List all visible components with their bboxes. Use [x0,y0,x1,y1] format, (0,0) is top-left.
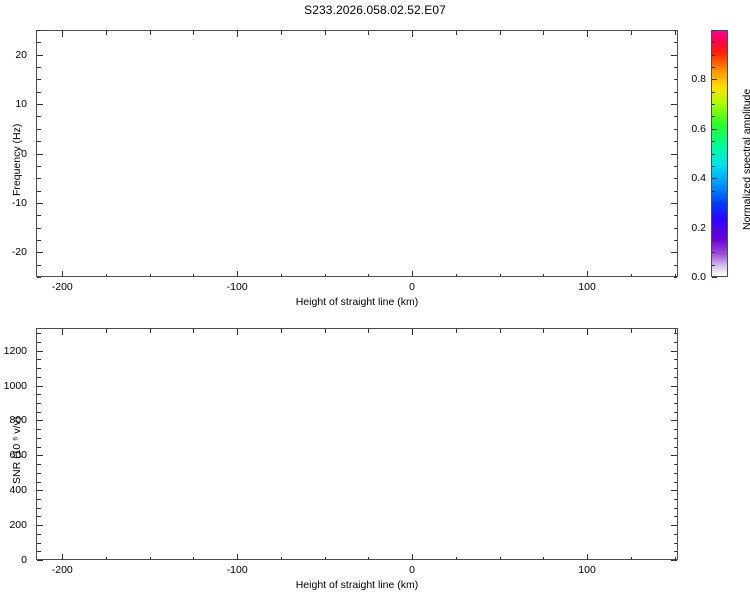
bottom-panel-xlabel: Height of straight line (km) [296,579,419,591]
tick-mark [37,551,41,552]
tick-mark [587,329,588,335]
tick-mark [712,42,715,43]
tick-mark [37,386,43,387]
tick-mark [712,92,715,93]
tick-mark [368,31,369,35]
bottom-ytick-label: 200 [0,519,27,531]
tick-mark [37,499,41,500]
tick-mark [712,116,715,117]
tick-mark [412,554,413,560]
tick-mark [671,351,677,352]
tick-mark [674,333,678,334]
page-title: S233.2026.058.02.52.E07 [0,3,750,17]
tick-mark [587,31,588,37]
top-panel-xlabel: Height of straight line (km) [296,296,419,308]
tick-mark [712,104,715,105]
tick-mark [674,473,678,474]
tick-mark [193,557,194,561]
tick-mark [37,394,41,395]
colorbar-tick-label: 0.0 [0,271,706,283]
tick-mark [412,31,413,37]
tick-mark [37,42,41,43]
tick-mark [37,429,41,430]
bottom-ytick-label: 0 [0,554,27,566]
tick-mark [37,447,41,448]
tick-mark [671,203,677,204]
tick-mark [671,490,677,491]
tick-mark [106,31,107,35]
tick-mark [712,215,715,216]
tick-mark [281,31,282,35]
tick-mark [37,342,41,343]
tick-mark [37,265,41,266]
tick-mark [37,104,43,105]
tick-mark [712,203,715,204]
colorbar-tick-label: 0.2 [0,222,706,234]
tick-mark [674,403,678,404]
tick-mark [500,329,501,333]
tick-mark [237,554,238,560]
tick-mark [37,516,41,517]
tick-mark [37,203,43,204]
tick-mark [237,31,238,37]
tick-mark [712,277,717,278]
tick-mark [237,329,238,335]
tick-mark [37,215,41,216]
tick-mark [674,394,678,395]
tick-mark [37,377,41,378]
top-ytick-label: -20 [0,246,27,258]
tick-mark [37,30,41,31]
bottom-xtick-label: -100 [227,564,248,576]
tick-mark [675,329,676,333]
tick-mark [674,42,678,43]
tick-mark [37,92,41,93]
tick-mark [456,329,457,333]
tick-mark [37,191,41,192]
tick-mark [712,228,717,229]
tick-mark [37,166,41,167]
tick-mark [674,543,678,544]
bottom-xtick-label: 100 [578,564,596,576]
top-panel-frame [36,30,678,277]
tick-mark [674,92,678,93]
tick-mark [456,557,457,561]
tick-mark [281,557,282,561]
bottom-panel-frame [36,328,678,560]
tick-mark [712,178,717,179]
tick-mark [674,215,678,216]
tick-mark [674,482,678,483]
top-ytick-label: 10 [0,98,27,110]
bottom-xtick-label: -200 [52,564,73,576]
tick-mark [674,508,678,509]
tick-mark [37,240,41,241]
tick-mark [674,116,678,117]
top-ytick-label: -10 [0,197,27,209]
tick-mark [37,368,41,369]
tick-mark [674,240,678,241]
tick-mark [37,141,41,142]
tick-mark [674,265,678,266]
tick-mark [368,329,369,333]
tick-mark [500,31,501,35]
tick-mark [193,31,194,35]
tick-mark [712,240,715,241]
tick-mark [674,191,678,192]
tick-mark [674,412,678,413]
tick-mark [674,30,678,31]
tick-mark [37,420,43,421]
tick-mark [671,455,677,456]
tick-mark [37,455,43,456]
tick-mark [37,534,41,535]
tick-mark [587,554,588,560]
tick-mark [712,30,717,31]
tick-mark [674,342,678,343]
tick-mark [674,368,678,369]
tick-mark [150,557,151,561]
tick-mark [37,412,41,413]
tick-mark [37,116,41,117]
tick-mark [671,560,677,561]
tick-mark [712,67,715,68]
tick-mark [325,557,326,561]
tick-mark [671,525,677,526]
tick-mark [150,31,151,35]
tick-mark [631,557,632,561]
tick-mark [37,359,41,360]
bottom-ytick-label: 1000 [0,380,27,392]
tick-mark [674,499,678,500]
tick-mark [37,438,41,439]
tick-mark [325,329,326,333]
tick-mark [671,386,677,387]
tick-mark [712,154,715,155]
tick-mark [712,252,715,253]
tick-mark [412,329,413,335]
tick-mark [37,490,43,491]
bottom-ytick-label: 1200 [0,345,27,357]
tick-mark [37,55,43,56]
tick-mark [456,31,457,35]
tick-mark [712,79,717,80]
tick-mark [37,543,41,544]
bottom-panel-ylabel: SNR (10 ⁶ v/v) [11,417,23,484]
tick-mark [674,429,678,430]
colorbar-tick-label: 0.8 [0,73,706,85]
colorbar-tick-label: 0.4 [0,172,706,184]
tick-mark [671,55,677,56]
tick-mark [37,560,43,561]
tick-mark [712,129,717,130]
tick-mark [37,508,41,509]
tick-mark [37,154,43,155]
tick-mark [674,438,678,439]
tick-mark [674,447,678,448]
tick-mark [37,351,43,352]
tick-mark [543,31,544,35]
tick-mark [543,557,544,561]
tick-mark [674,464,678,465]
tick-mark [37,482,41,483]
tick-mark [325,31,326,35]
tick-mark [712,191,715,192]
bottom-xtick-label: 0 [409,564,415,576]
tick-mark [674,516,678,517]
tick-mark [674,67,678,68]
tick-mark [674,359,678,360]
tick-mark [193,329,194,333]
bottom-ytick-label: 400 [0,484,27,496]
tick-mark [671,104,677,105]
colorbar-label: Normalized spectral amplitude [741,88,750,229]
tick-mark [674,141,678,142]
tick-mark [62,329,63,335]
tick-mark [712,265,715,266]
tick-mark [631,31,632,35]
tick-mark [674,534,678,535]
tick-mark [674,166,678,167]
tick-mark [150,329,151,333]
tick-mark [671,154,677,155]
tick-mark [500,557,501,561]
tick-mark [671,420,677,421]
tick-mark [631,329,632,333]
tick-mark [37,67,41,68]
tick-mark [368,557,369,561]
tick-mark [37,252,43,253]
tick-mark [674,551,678,552]
tick-mark [712,166,715,167]
tick-mark [671,252,677,253]
tick-mark [106,557,107,561]
top-ytick-label: 20 [0,49,27,61]
tick-mark [675,31,676,35]
tick-mark [712,141,715,142]
tick-mark [37,525,43,526]
tick-mark [37,333,41,334]
tick-mark [62,31,63,37]
tick-mark [712,55,715,56]
colorbar-tick-label: 0.6 [0,123,706,135]
tick-mark [37,464,41,465]
tick-mark [37,473,41,474]
tick-mark [106,329,107,333]
tick-mark [281,329,282,333]
tick-mark [543,329,544,333]
tick-mark [674,377,678,378]
tick-mark [37,403,41,404]
tick-mark [62,554,63,560]
